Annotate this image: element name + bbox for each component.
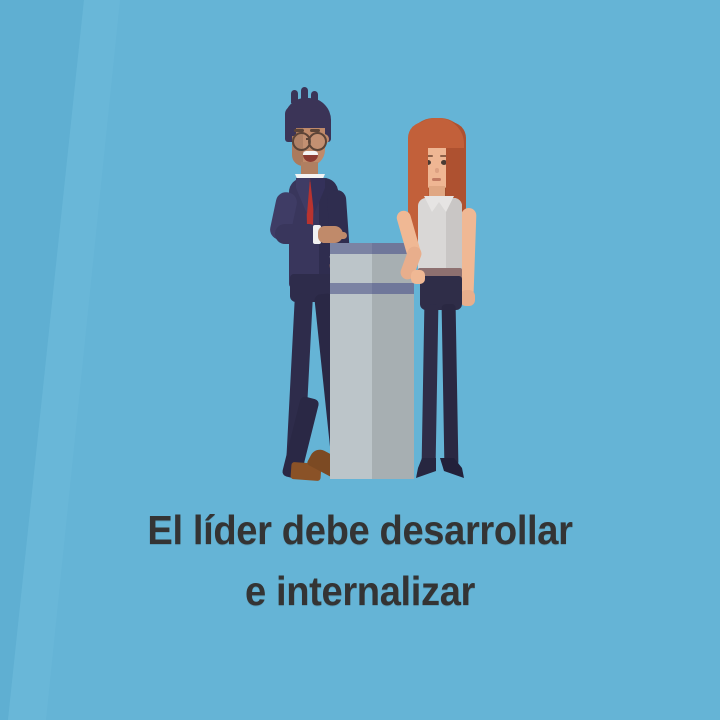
- woman-mouth: [432, 178, 441, 181]
- woman-hand-on-hip: [411, 270, 425, 284]
- glasses-bridge: [306, 138, 310, 140]
- woman-leg-right: [442, 304, 459, 466]
- caption-line-1: El líder debe desarrollar: [25, 500, 695, 561]
- man-pointing-finger: [333, 232, 347, 239]
- slide-canvas: El líder debe desarrollar e internalizar: [0, 0, 720, 720]
- woman-shoe-left: [416, 458, 440, 478]
- podium-face-left: [330, 243, 372, 479]
- caption-line-2: e internalizar: [25, 561, 695, 622]
- woman-nose: [435, 168, 439, 173]
- woman-shoe-right: [440, 458, 464, 478]
- woman-blouse-shadow: [446, 198, 462, 276]
- woman-leg-left: [422, 304, 439, 466]
- businesswoman-figure: [396, 118, 501, 480]
- glasses-icon: [308, 132, 327, 151]
- caption-block: El líder debe desarrollar e internalizar: [25, 500, 695, 621]
- man-teeth: [303, 151, 318, 155]
- podium-band-middle-left: [330, 283, 372, 294]
- podium-band-top-left: [330, 243, 372, 254]
- woman-hand-right: [460, 290, 475, 306]
